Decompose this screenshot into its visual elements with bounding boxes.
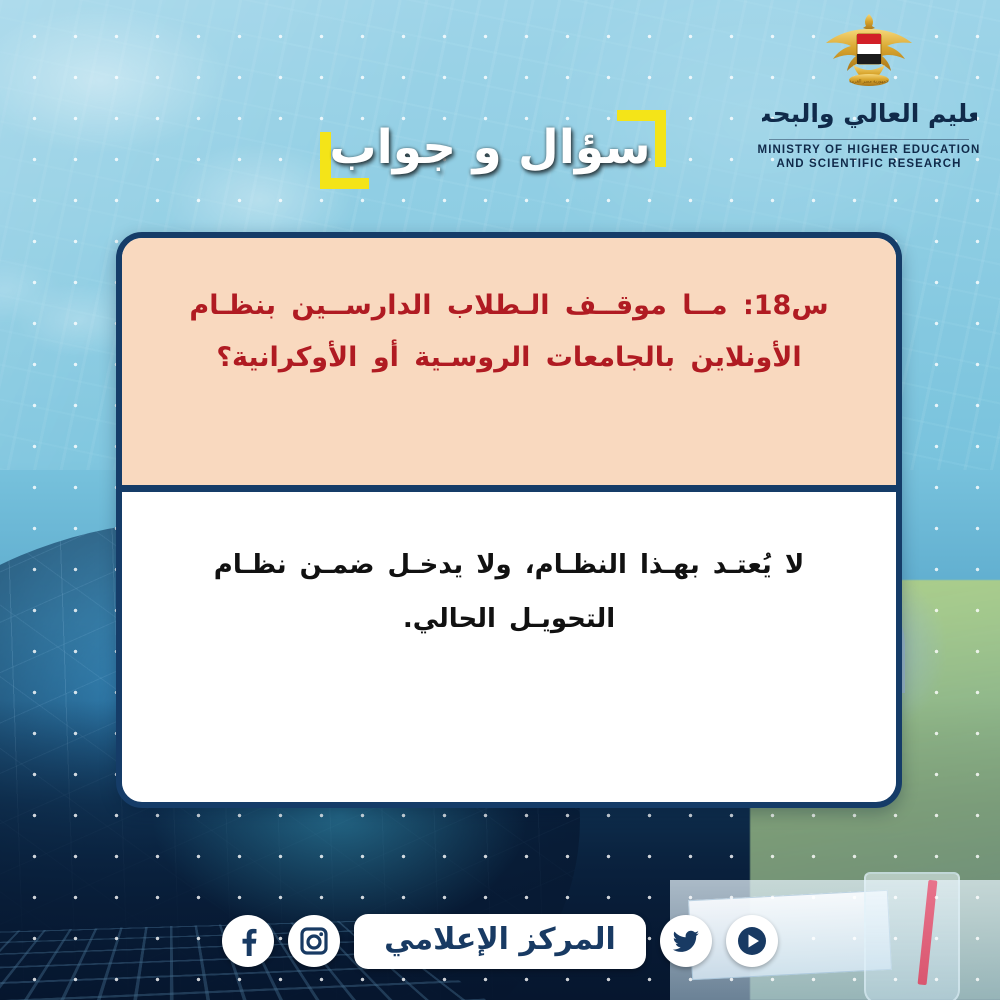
- question-section: س18: مــا موقــف الـطلاب الدارســين بنظـ…: [122, 238, 896, 492]
- logo-divider: [769, 139, 969, 140]
- qa-card: س18: مــا موقــف الـطلاب الدارســين بنظـ…: [116, 232, 902, 808]
- instagram-icon: [300, 927, 328, 955]
- facebook-icon: [233, 926, 263, 956]
- ministry-logo: جمهورية مصر العربية وزارة التعليم العالي…: [754, 12, 984, 171]
- youtube-button[interactable]: [726, 915, 778, 967]
- twitter-button[interactable]: [660, 915, 712, 967]
- ministry-english-line1: MINISTRY OF HIGHER EDUCATION: [754, 144, 984, 158]
- svg-text:وزارة التعليم العالي والبحث ال: وزارة التعليم العالي والبحث العلمي: [762, 99, 977, 129]
- banner: سؤال و جواب: [312, 104, 668, 190]
- instagram-button[interactable]: [288, 915, 340, 967]
- ministry-arabic-name: وزارة التعليم العالي والبحث العلمي: [762, 92, 977, 134]
- eagle-of-saladin-icon: جمهورية مصر العربية: [823, 12, 915, 90]
- svg-text:جمهورية مصر العربية: جمهورية مصر العربية: [849, 80, 889, 85]
- question-text: س18: مــا موقــف الـطلاب الدارســين بنظـ…: [160, 280, 858, 384]
- twitter-icon: [671, 926, 701, 956]
- answer-text: لا يُعتـد بهـذا النظـام، ولا يدخـل ضمـن …: [164, 538, 854, 646]
- facebook-button[interactable]: [222, 915, 274, 967]
- ministry-english-name: MINISTRY OF HIGHER EDUCATION AND SCIENTI…: [754, 144, 984, 171]
- banner-title: سؤال و جواب: [312, 104, 668, 190]
- ministry-english-line2: AND SCIENTIFIC RESEARCH: [754, 158, 984, 172]
- footer-bar: المركز الإعلامي: [0, 905, 1000, 977]
- media-center-pill[interactable]: المركز الإعلامي: [354, 914, 646, 969]
- poster-canvas: جمهورية مصر العربية وزارة التعليم العالي…: [0, 0, 1000, 1000]
- answer-section: لا يُعتـد بهـذا النظـام، ولا يدخـل ضمـن …: [122, 492, 896, 800]
- youtube-icon: [735, 924, 769, 958]
- media-center-label: المركز الإعلامي: [384, 922, 616, 957]
